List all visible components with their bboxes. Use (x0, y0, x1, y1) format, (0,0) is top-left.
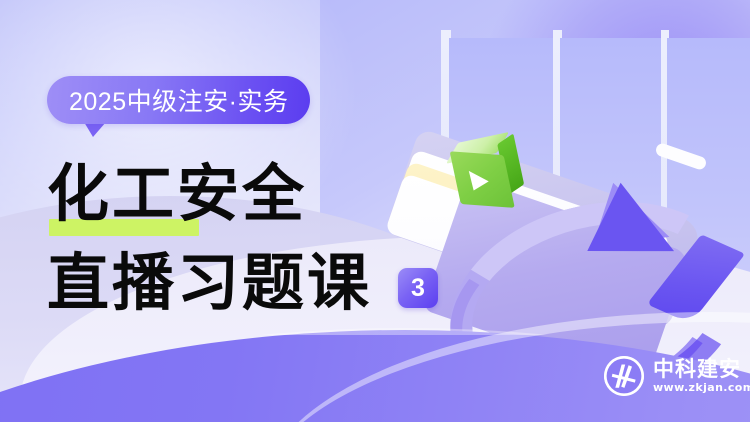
page-title-line-1: 化工安全 (47, 163, 307, 225)
course-category-badge: 2025中级注安·实务 (47, 76, 310, 124)
page-title-line-2: 直播习题课 (47, 252, 372, 314)
brand-logo: 中科建安 www.zkjan.com (604, 356, 750, 396)
brand-url: www.zkjan.com (653, 382, 750, 393)
badge-pointer-tail (84, 122, 106, 137)
brand-name: 中科建安 (653, 359, 750, 380)
course-category-label: 2025中级注安·实务 (69, 82, 288, 118)
episode-number-label: 3 (411, 274, 425, 303)
course-banner: 2025中级注安·实务 化工安全 直播习题课 3 中科建安 www.zkjan.… (0, 0, 750, 422)
green-play-cube-icon (448, 131, 529, 216)
headline-group: 2025中级注安·实务 化工安全 直播习题课 3 (0, 0, 460, 340)
episode-number-badge: 3 (398, 268, 438, 308)
zkjan-circle-logo-icon (604, 356, 644, 396)
brand-text-group: 中科建安 www.zkjan.com (653, 359, 750, 393)
